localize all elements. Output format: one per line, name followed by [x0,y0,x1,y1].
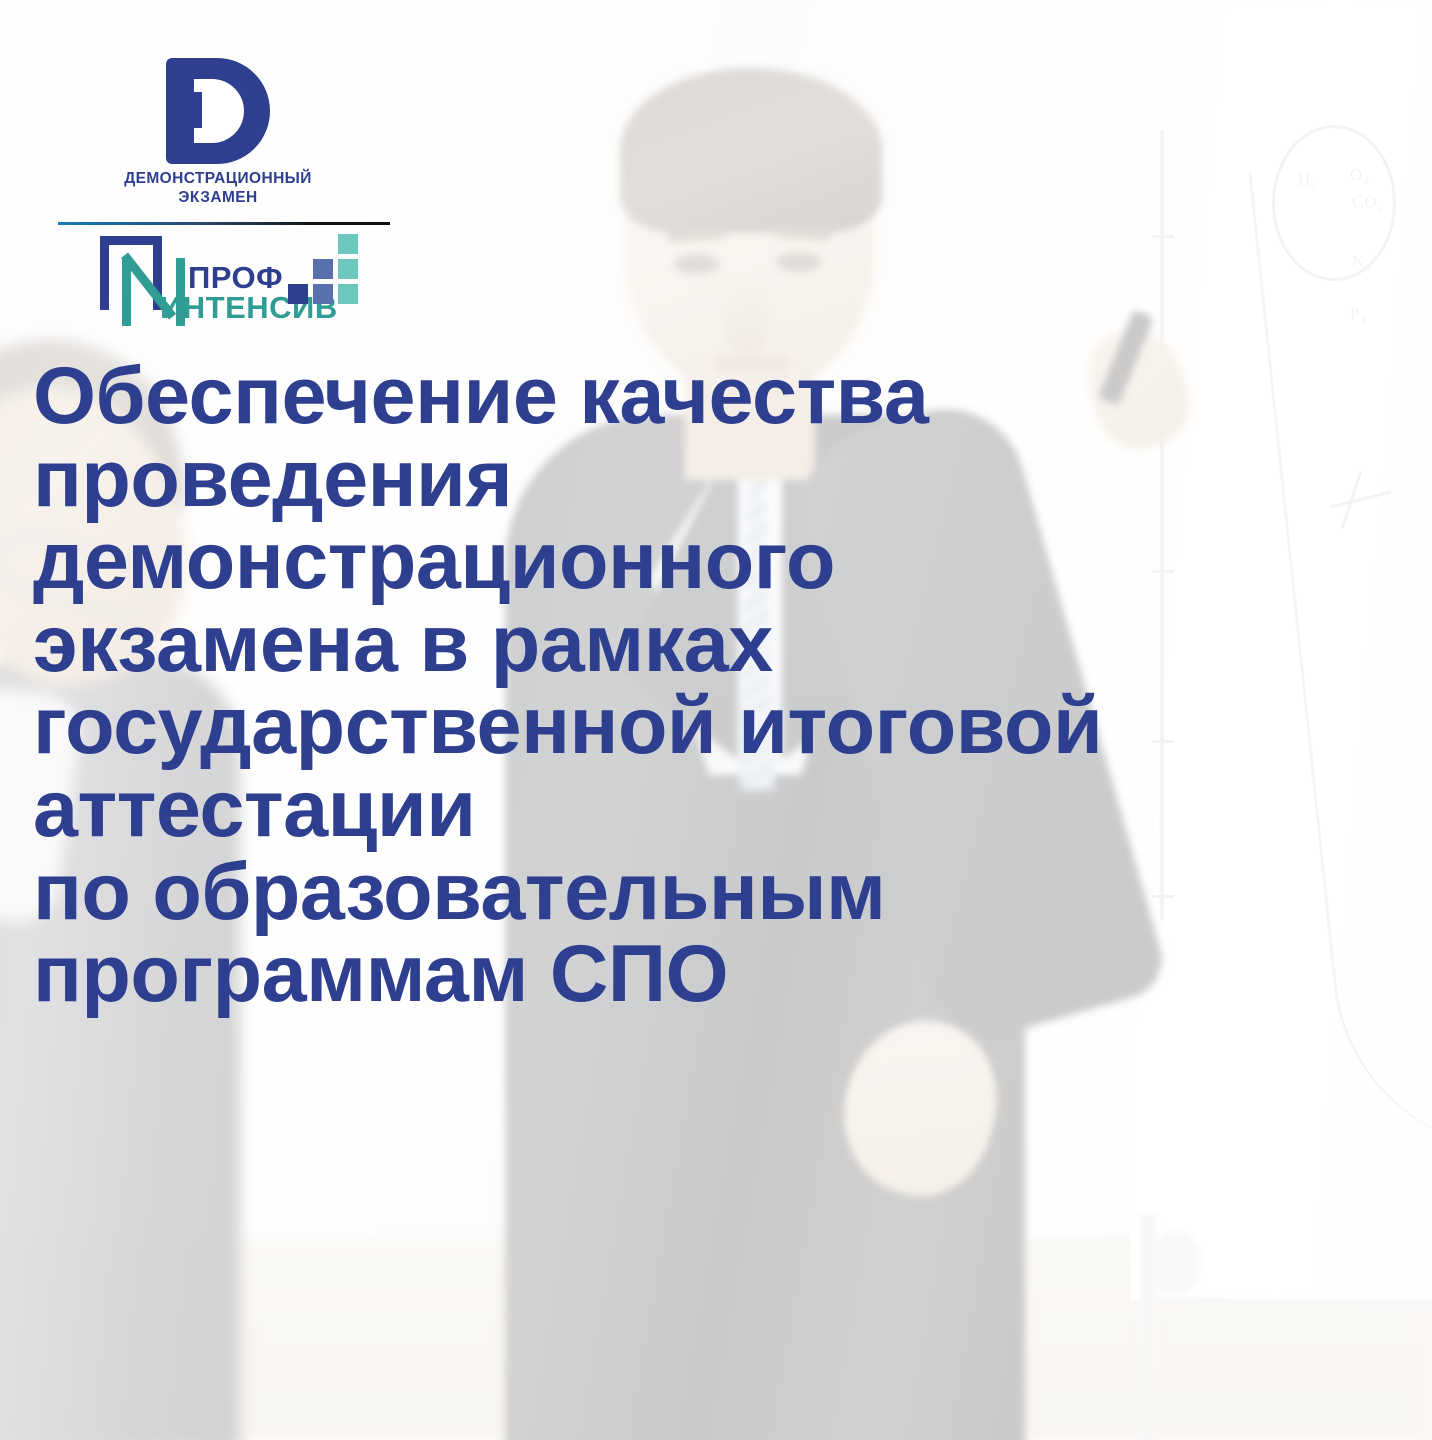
d-square-dot [170,92,202,128]
logo-block: ДЕМОНСТРАЦИОННЫЙ ЭКЗАМЕН ПРОФ ИНТЕНСИВ [48,48,388,326]
letter-d-mark-icon [166,58,270,164]
whiteboard-note: P₄ [1350,305,1367,325]
man-hair [620,68,882,233]
man-eye-right [776,252,822,272]
slide-root: H₂ O₂ CO₂ N₂ P₄ [0,0,1432,1440]
logo-square [338,234,358,254]
title-line: по образовательным [33,851,1353,934]
logo-square [338,259,358,279]
page-title: Обеспечение качества проведения демонстр… [33,355,1353,1016]
whiteboard-note: H₂ [1298,170,1318,190]
man-eye-left [674,254,720,274]
logo-de-line-1: ДЕМОНСТРАЦИОННЫЙ [48,170,388,188]
logo-divider [58,222,390,225]
whiteboard-note: N₂ [1352,252,1372,272]
title-line: Обеспечение качества [33,355,1353,438]
title-line: аттестации [33,768,1353,851]
title-line: демонстрационного [33,520,1353,603]
title-line: программам СПО [33,933,1353,1016]
logo-square-grid-icon [288,234,360,306]
logo-square [313,284,333,304]
logo-square [288,284,308,304]
logo-demonstration-exam: ДЕМОНСТРАЦИОННЫЙ ЭКЗАМЕН [48,58,388,209]
logo-profintensiv: ПРОФ ИНТЕНСИВ [100,234,360,326]
whiteboard-tick [1152,235,1174,238]
whiteboard-note: CO₂ [1352,192,1385,212]
man-nose [726,278,768,356]
whiteboard-stand-leg [1140,1215,1156,1440]
title-line: экзамена в рамках [33,603,1353,686]
whiteboard-note: O₂ [1350,165,1370,185]
logo-square [338,284,358,304]
title-line: государственной итоговой [33,685,1353,768]
logo-de-line-2: ЭКЗАМЕН [48,188,388,209]
logo-square [313,259,333,279]
title-line: проведения [33,438,1353,521]
